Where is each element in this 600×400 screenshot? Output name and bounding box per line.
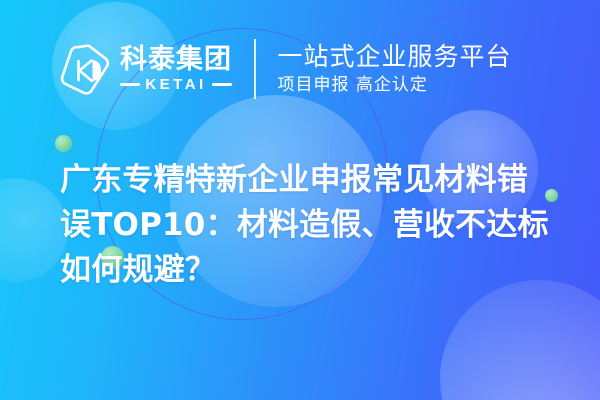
slogan-secondary: 项目申报 高企认定	[278, 76, 512, 95]
wordmark-rule-left	[120, 83, 140, 86]
wordmark-rule-right	[212, 83, 232, 86]
headline-line-1: 广东专精特新企业申报常见材料错	[60, 158, 565, 203]
headline-line-3: 如何规避？	[60, 248, 565, 293]
headline-line-2: 误TOP10：材料造假、营收不达标	[60, 203, 565, 248]
brand-name-en-row: KETAI	[120, 77, 232, 92]
slogan-primary: 一站式企业服务平台	[278, 43, 512, 71]
brand-logo[interactable]: 科泰集团 KETAI	[58, 41, 232, 97]
brand-name-en: KETAI	[145, 77, 206, 92]
brand-name-cn: 科泰集团	[120, 46, 232, 73]
promo-banner: 科泰集团 KETAI 一站式企业服务平台 项目申报 高企认定 广东专精特新企业申…	[0, 0, 600, 400]
slogan-block: 一站式企业服务平台 项目申报 高企认定	[278, 43, 512, 95]
brand-wordmark: 科泰集团 KETAI	[120, 46, 232, 92]
decorative-circle-right-bottom	[440, 280, 600, 400]
banner-header: 科泰集团 KETAI 一站式企业服务平台 项目申报 高企认定	[0, 32, 600, 106]
vertical-divider-icon	[254, 39, 256, 99]
decorative-green-dot-1	[55, 135, 72, 152]
ketai-kt-monogram-icon	[58, 41, 112, 97]
headline: 广东专精特新企业申报常见材料错 误TOP10：材料造假、营收不达标 如何规避？	[60, 158, 565, 293]
decorative-circle-left	[0, 178, 68, 282]
